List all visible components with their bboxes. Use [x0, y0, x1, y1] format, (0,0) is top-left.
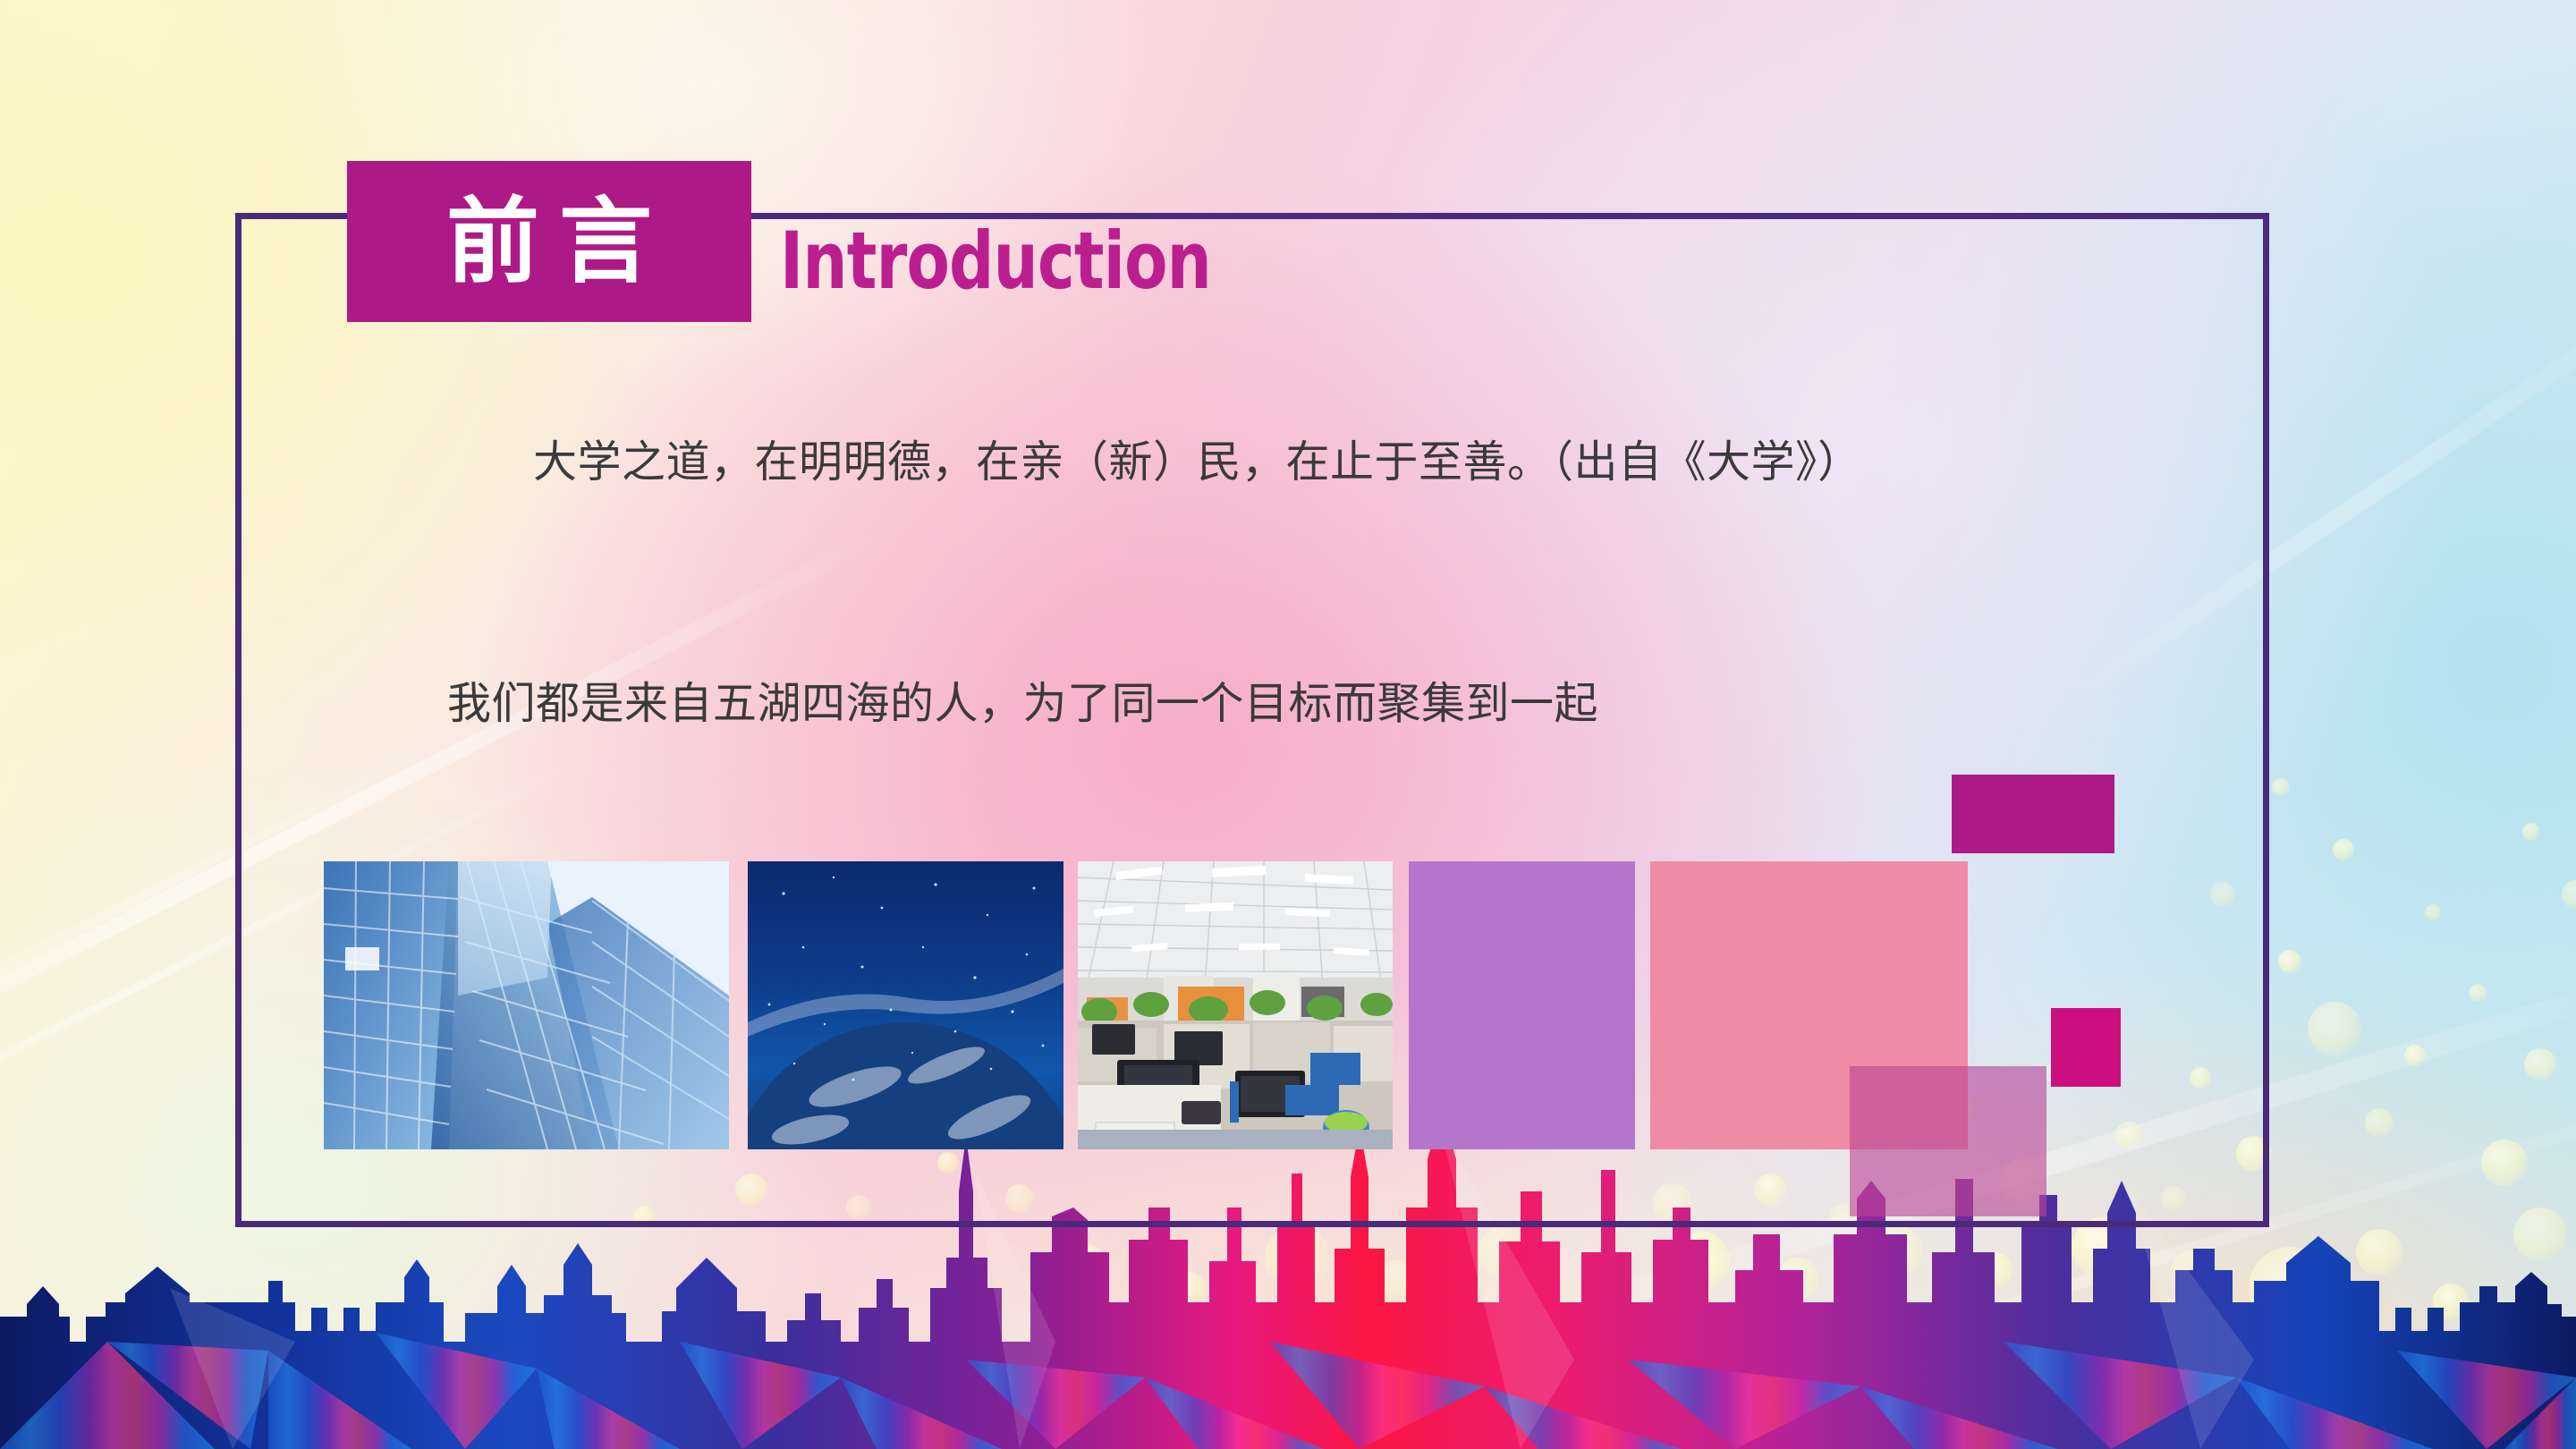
office-interior-cubicles-photo: [1078, 861, 1393, 1149]
translucent-overlay-block: [1850, 1066, 2046, 1216]
glass-office-building-photo: [324, 861, 729, 1149]
magenta-block-small: [2051, 1008, 2121, 1087]
section-title-cn: 前言: [427, 195, 672, 288]
body-paragraph-2: 我们都是来自五湖四海的人，为了同一个目标而聚集到一起: [447, 675, 2057, 733]
section-title-box: 前言: [347, 161, 751, 322]
magenta-block-top: [1952, 775, 2114, 853]
section-title-en: Introduction: [780, 222, 1211, 301]
purple-color-block: [1409, 861, 1635, 1149]
presentation-slide: 前言 Introduction 大学之道，在明明德，在亲（新）民，在止于至善。（…: [0, 0, 2576, 1449]
body-paragraph-1: 大学之道，在明明德，在亲（新）民，在止于至善。（出自《大学》）: [483, 434, 2004, 492]
earth-from-space-photo: [748, 861, 1063, 1149]
